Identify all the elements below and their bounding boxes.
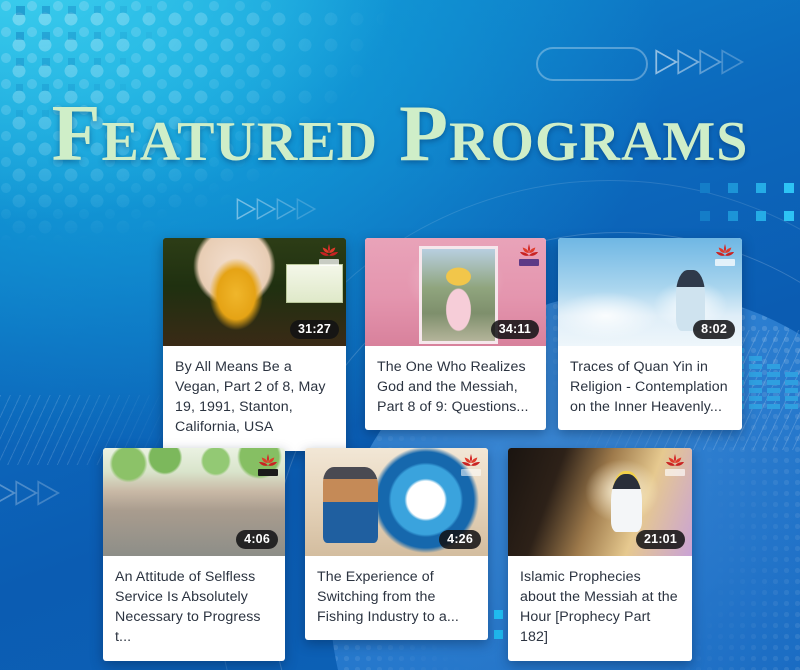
program-card[interactable]: 31:27 By All Means Be a Vegan, Part 2 of… xyxy=(163,238,346,451)
equalizer-bar xyxy=(767,364,780,369)
duration-badge: 34:11 xyxy=(491,320,539,340)
program-thumbnail[interactable]: 4:26 xyxy=(305,448,488,556)
equalizer-bar xyxy=(785,372,798,377)
program-card[interactable]: 4:26 The Experience of Switching from th… xyxy=(305,448,488,640)
square-row xyxy=(700,211,794,221)
square-dot xyxy=(756,183,766,193)
corner-square xyxy=(68,32,76,40)
square-dot xyxy=(784,183,794,193)
equalizer-bar xyxy=(785,396,798,401)
logo-caption-bar xyxy=(258,469,278,476)
logo-caption-bar xyxy=(461,469,481,476)
corner-square xyxy=(42,32,50,40)
equalizer-column xyxy=(785,348,798,409)
corner-square xyxy=(94,6,101,13)
program-card[interactable]: 34:11 The One Who Realizes God and the M… xyxy=(365,238,546,430)
equalizer-bar xyxy=(767,372,780,377)
duration-badge: 4:06 xyxy=(236,530,278,550)
duration-badge: 31:27 xyxy=(290,320,339,340)
equalizer-bar xyxy=(767,396,780,401)
square-dot xyxy=(756,211,766,221)
equalizer-bar xyxy=(767,380,780,385)
logo-caption-bar xyxy=(665,469,685,476)
corner-square xyxy=(120,6,127,13)
square-row xyxy=(700,183,794,193)
program-title: An Attitude of Selfless Service Is Absol… xyxy=(103,556,285,661)
duration-badge: 8:02 xyxy=(693,320,735,340)
corner-square xyxy=(120,32,127,39)
corner-square xyxy=(16,58,24,66)
corner-square xyxy=(68,6,76,14)
square-dot xyxy=(784,211,794,221)
equalizer-bar xyxy=(749,396,762,401)
program-thumbnail[interactable]: 34:11 xyxy=(365,238,546,346)
equalizer-bar xyxy=(749,364,762,369)
corner-square xyxy=(16,84,23,91)
square-dot xyxy=(728,183,738,193)
channel-logo-icon xyxy=(714,242,736,262)
corner-square xyxy=(42,84,49,91)
square-dot xyxy=(700,183,710,193)
duration-badge: 4:26 xyxy=(439,530,481,550)
square-dot xyxy=(700,211,710,221)
channel-logo-icon xyxy=(318,242,340,262)
equalizer-bar xyxy=(749,356,762,361)
equalizer-bar xyxy=(749,404,762,409)
equalizer-column xyxy=(767,348,780,409)
equalizer-bar xyxy=(749,380,762,385)
logo-caption-bar xyxy=(319,259,339,266)
channel-logo-icon xyxy=(664,452,686,472)
corner-square xyxy=(146,6,152,12)
equalizer-bar xyxy=(785,380,798,385)
featured-programs-banner: Featured Programs 31:27 By All Means Be … xyxy=(0,0,800,670)
corner-square xyxy=(42,58,50,66)
program-title: By All Means Be a Vegan, Part 2 of 8, Ma… xyxy=(163,346,346,451)
square-dot xyxy=(728,211,738,221)
program-title: Traces of Quan Yin in Religion - Contemp… xyxy=(558,346,742,430)
corner-square xyxy=(16,6,25,15)
program-thumbnail[interactable]: 31:27 xyxy=(163,238,346,346)
equalizer-bar xyxy=(749,388,762,393)
program-thumbnail[interactable]: 21:01 xyxy=(508,448,692,556)
equalizer-bar xyxy=(767,388,780,393)
equalizer-bar xyxy=(767,404,780,409)
corner-square xyxy=(120,58,126,64)
corner-square xyxy=(94,32,101,39)
corner-square xyxy=(146,32,152,38)
program-thumbnail[interactable]: 4:06 xyxy=(103,448,285,556)
logo-caption-bar xyxy=(519,259,539,266)
channel-logo-icon xyxy=(257,452,279,472)
duration-badge: 21:01 xyxy=(636,530,685,550)
program-card[interactable]: 21:01 Islamic Prophecies about the Messi… xyxy=(508,448,692,661)
channel-logo-icon xyxy=(460,452,482,472)
program-card[interactable]: 4:06 An Attitude of Selfless Service Is … xyxy=(103,448,285,661)
square-dot xyxy=(494,610,503,619)
equalizer-bar xyxy=(785,388,798,393)
page-title: Featured Programs xyxy=(0,94,800,174)
pill-outline-shape xyxy=(536,47,648,81)
corner-square xyxy=(68,58,75,65)
corner-square xyxy=(42,6,50,14)
square-dot-grid-right xyxy=(700,183,794,239)
program-card[interactable]: 8:02 Traces of Quan Yin in Religion - Co… xyxy=(558,238,742,430)
program-title: The One Who Realizes God and the Messiah… xyxy=(365,346,546,430)
program-thumbnail[interactable]: 8:02 xyxy=(558,238,742,346)
corner-square xyxy=(16,32,24,40)
equalizer-bar xyxy=(785,404,798,409)
channel-logo-icon xyxy=(518,242,540,262)
square-dot xyxy=(494,630,503,639)
program-title: Islamic Prophecies about the Messiah at … xyxy=(508,556,692,661)
equalizer-bar xyxy=(749,372,762,377)
logo-caption-bar xyxy=(715,259,735,266)
program-title: The Experience of Switching from the Fis… xyxy=(305,556,488,640)
corner-square xyxy=(94,58,101,65)
equalizer-column xyxy=(749,348,762,409)
